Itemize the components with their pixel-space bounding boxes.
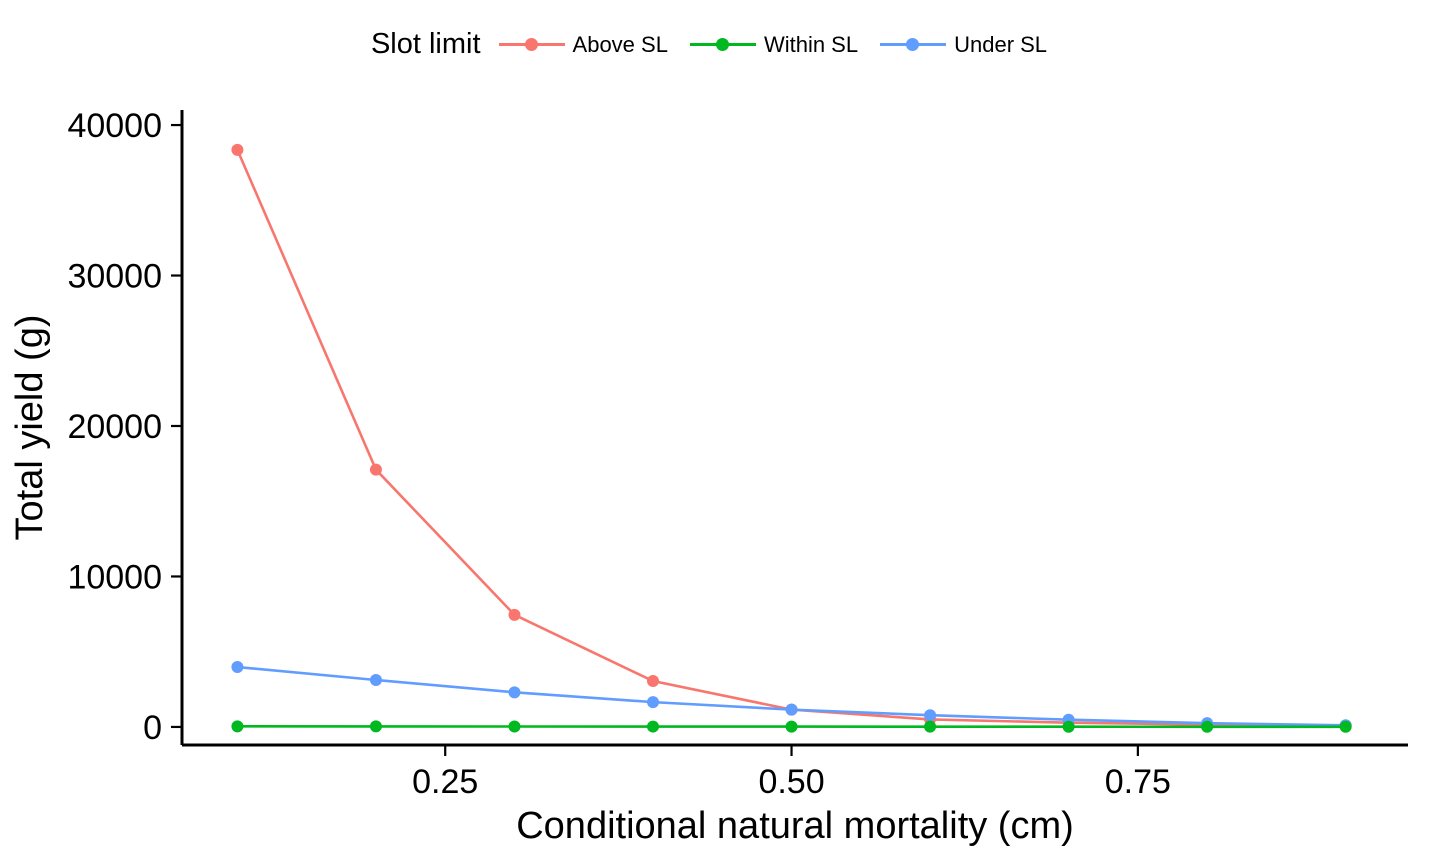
data-point-within-sl[interactable] [231,720,243,732]
plot-area: 010000200003000040000 0.250.500.75 Total… [0,0,1440,864]
series-line-under-sl [237,667,1345,725]
x-axis-ticks: 0.250.500.75 [412,745,1171,801]
data-point-within-sl[interactable] [508,720,520,732]
data-point-within-sl[interactable] [1201,721,1213,733]
data-series-layer [231,144,1351,733]
data-point-within-sl[interactable] [647,721,659,733]
x-tick-label: 0.75 [1105,763,1171,801]
y-tick-label: 20000 [67,408,162,446]
data-point-above-sl[interactable] [508,609,520,621]
y-tick-label: 40000 [67,107,162,145]
y-axis-title: Total yield (g) [9,315,51,541]
data-point-within-sl[interactable] [924,721,936,733]
chart-figure: Slot limit Above SL Within SL Under SL [0,0,1440,864]
data-point-within-sl[interactable] [370,720,382,732]
y-axis-ticks: 010000200003000040000 [67,107,182,747]
x-tick-label: 0.50 [758,763,824,801]
y-tick-label: 10000 [67,558,162,596]
data-point-within-sl[interactable] [1340,721,1352,733]
data-point-under-sl[interactable] [231,661,243,673]
data-point-above-sl[interactable] [647,675,659,687]
data-point-above-sl[interactable] [231,144,243,156]
data-point-under-sl[interactable] [924,709,936,721]
data-point-within-sl[interactable] [1063,721,1075,733]
x-tick-label: 0.25 [412,763,478,801]
data-point-under-sl[interactable] [786,704,798,716]
y-tick-label: 0 [143,709,162,747]
data-point-under-sl[interactable] [370,674,382,686]
series-line-above-sl [237,150,1345,726]
data-point-under-sl[interactable] [508,686,520,698]
y-tick-label: 30000 [67,258,162,296]
data-point-under-sl[interactable] [647,696,659,708]
data-point-within-sl[interactable] [786,721,798,733]
data-point-above-sl[interactable] [370,464,382,476]
x-axis-title: Conditional natural mortality (cm) [516,805,1074,847]
